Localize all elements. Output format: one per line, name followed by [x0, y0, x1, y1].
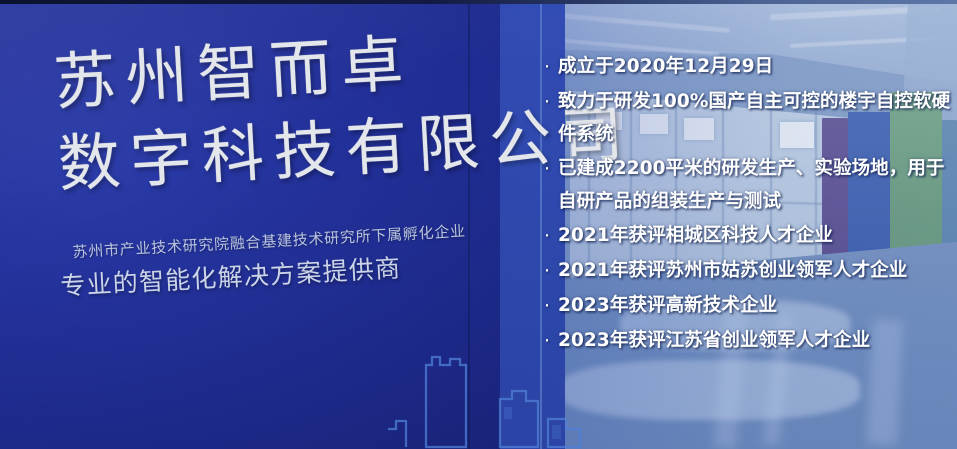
bullet-marker-icon: · — [536, 50, 558, 84]
list-item: · 2023年获评高新技术企业 — [536, 289, 951, 323]
company-highlights-list: · 成立于2020年12月29日 · 致力于研发100%国产自主可控的楼宇自控软… — [536, 50, 951, 359]
bullet-marker-icon: · — [536, 254, 558, 288]
list-item: · 成立于2020年12月29日 — [536, 50, 951, 84]
slide-canvas: 苏州智而卓 数字科技有限公司 苏州市产业技术研究院融合基建技术研究所下属孵化企业… — [0, 0, 957, 449]
list-item: · 2021年获评苏州市姑苏创业领军人才企业 — [536, 254, 951, 288]
bullet-marker-icon: · — [536, 219, 558, 253]
list-item: · 2021年获评相城区科技人才企业 — [536, 219, 951, 253]
list-item-text: 2023年获评江苏省创业领军人才企业 — [558, 324, 951, 357]
list-item-text: 2023年获评高新技术企业 — [558, 289, 951, 322]
list-item-text: 2021年获评苏州市姑苏创业领军人才企业 — [558, 254, 951, 287]
bullet-marker-icon: · — [536, 152, 558, 186]
list-item: · 2023年获评江苏省创业领军人才企业 — [536, 324, 951, 358]
list-item-text: 成立于2020年12月29日 — [558, 50, 951, 83]
bullet-marker-icon: · — [536, 289, 558, 323]
list-item: · 已建成2200平米的研发生产、实验场地，用于自研产品的组装生产与测试 — [536, 152, 951, 218]
list-item: · 致力于研发100%国产自主可控的楼宇自控软硬件系统 — [536, 85, 951, 151]
list-item-text: 已建成2200平米的研发生产、实验场地，用于自研产品的组装生产与测试 — [558, 152, 951, 218]
list-item-text: 2021年获评相城区科技人才企业 — [558, 219, 951, 252]
slide-top-edge — [0, 0, 957, 4]
wall-headline: 苏州智而卓 数字科技有限公司 — [52, 22, 540, 200]
list-item-text: 致力于研发100%国产自主可控的楼宇自控软硬件系统 — [558, 85, 951, 151]
bullet-marker-icon: · — [536, 85, 558, 119]
bullet-marker-icon: · — [536, 324, 558, 358]
